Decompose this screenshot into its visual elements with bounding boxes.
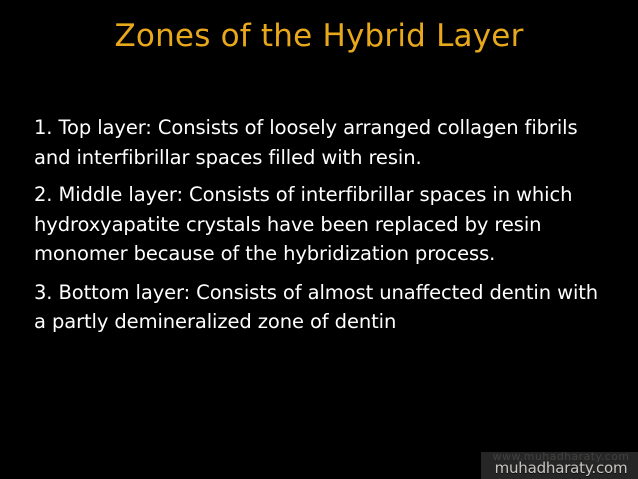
watermark-text: muhadharaty.com <box>487 459 635 477</box>
presentation-slide: Zones of the Hybrid Layer 1. Top layer: … <box>0 0 638 479</box>
page-title: Zones of the Hybrid Layer <box>0 17 638 55</box>
watermark-panel: www.muhadharaty.com muhadharaty.com <box>481 452 638 479</box>
slide-body: 1. Top layer: Consists of loosely arrang… <box>34 113 614 337</box>
list-item: 2. Middle layer: Consists of interfibril… <box>34 180 614 269</box>
list-item: 3. Bottom layer: Consists of almost unaf… <box>34 278 614 337</box>
list-item: 1. Top layer: Consists of loosely arrang… <box>34 113 614 172</box>
